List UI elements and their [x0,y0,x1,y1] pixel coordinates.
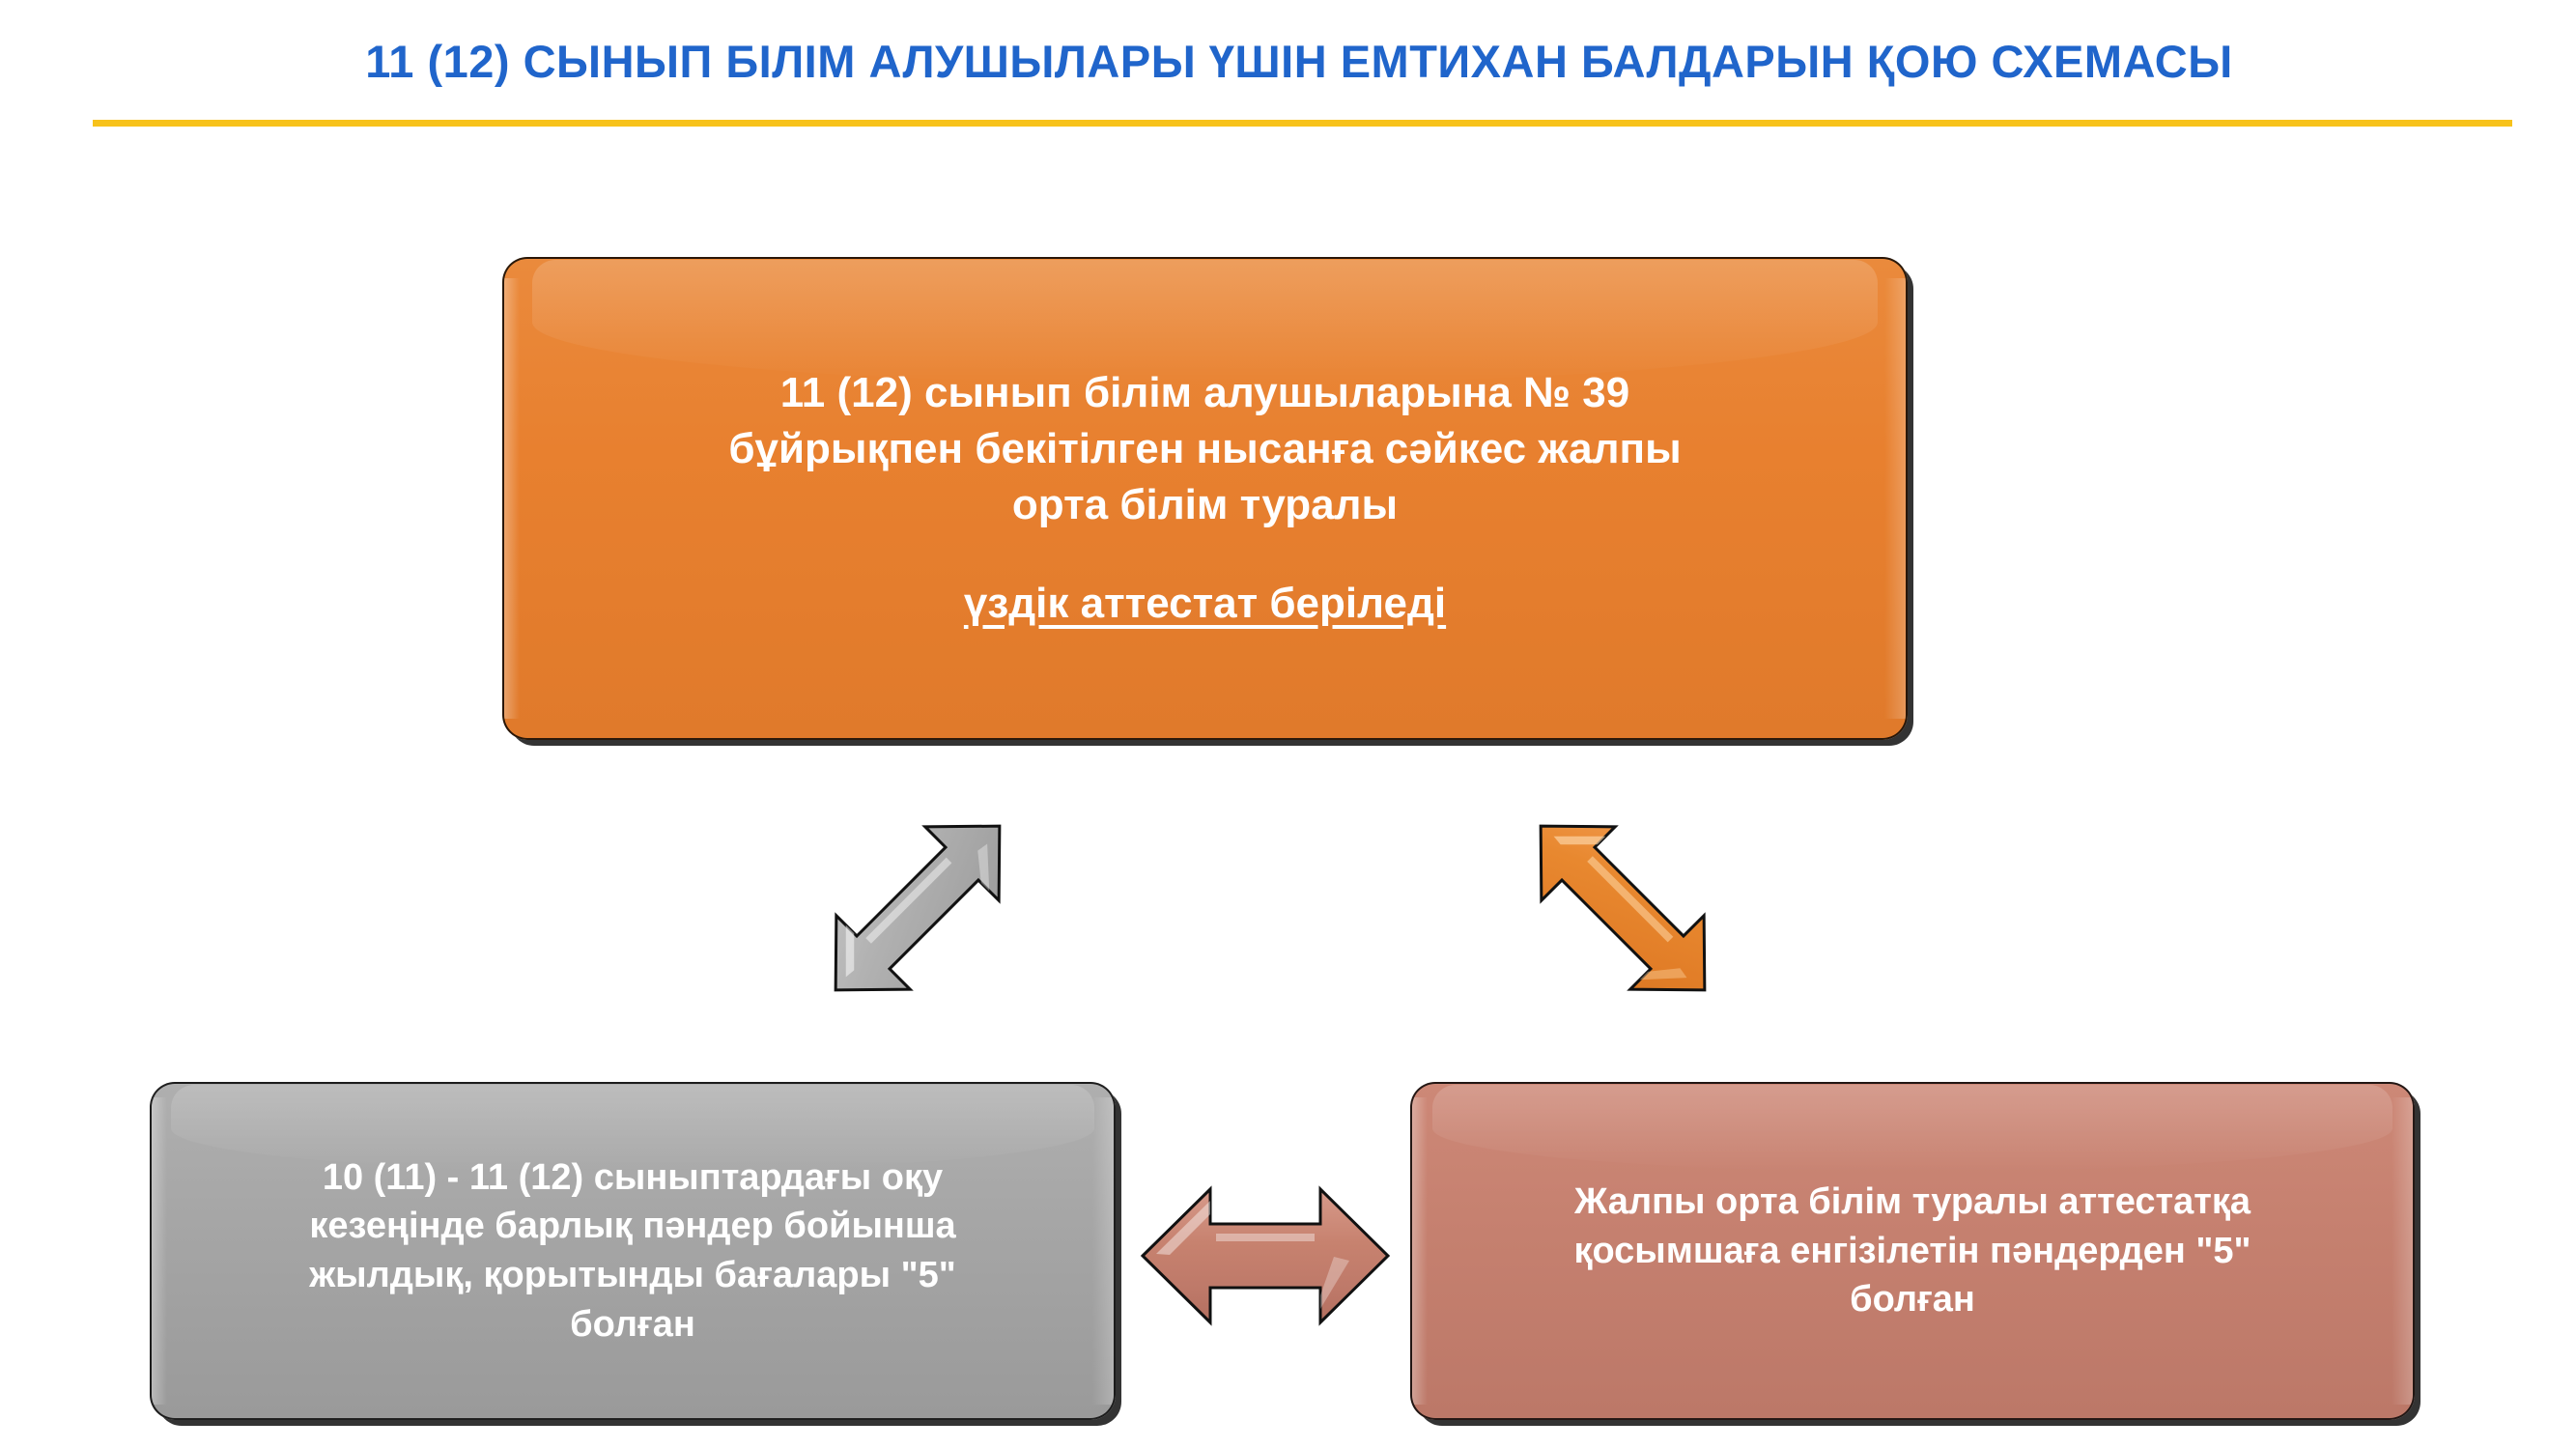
process-box-right-text: Жалпы орта білім туралы аттестатқа қосым… [1472,1178,2353,1324]
connector-gray-diagonal[interactable] [763,792,1072,1024]
connector-orange-diagonal[interactable] [1468,792,1777,1024]
title-bar: 11 (12) СЫНЫП БІЛІМ АЛУШЫЛАРЫ ҮШІН ЕМТИХ… [0,0,2576,135]
title-underline-rule [93,120,2512,127]
left-box-line-1: 10 (11) - 11 (12) сыныптардағы оқу [210,1153,1056,1203]
right-box-line-1: Жалпы орта білім туралы аттестатқа [1472,1178,2353,1227]
right-box-line-2: қосымшаға енгізілетін пәндерден "5" [1472,1227,2353,1276]
gray-double-arrow-icon [763,792,1072,1024]
top-box-emphasis-text: үздік аттестат беріледі [964,576,1446,632]
right-box-line-3: болған [1472,1275,2353,1324]
box-highlight-left [152,1097,167,1405]
box-highlight-right [1884,278,1906,719]
left-box-line-2: кезеңінде барлық пәндер бойынша [210,1202,1056,1251]
top-box-emphasis-wrap: үздік аттестат беріледі [588,533,1822,632]
process-box-top-text: 11 (12) сынып білім алушыларына № 39 бұй… [588,365,1822,632]
pink-double-arrow-icon [1135,1164,1396,1348]
top-box-line-1: 11 (12) сынып білім алушыларына № 39 [588,365,1822,421]
top-box-line-3: орта білім туралы [588,477,1822,533]
process-box-left-text: 10 (11) - 11 (12) сыныптардағы оқу кезең… [210,1153,1056,1349]
box-highlight-top [1432,1085,2393,1172]
left-box-line-4: болған [210,1300,1056,1350]
box-highlight-left [504,278,520,719]
left-box-line-3: жылдық, қорытынды бағалары "5" [210,1251,1056,1300]
box-highlight-right [1092,1097,1114,1405]
box-highlight-right [2392,1097,2413,1405]
orange-double-arrow-icon [1468,792,1777,1024]
box-highlight-left [1412,1097,1428,1405]
process-box-bottom-left-gray[interactable]: 10 (11) - 11 (12) сыныптардағы оқу кезең… [150,1082,1116,1420]
connector-pink-horizontal[interactable] [1135,1164,1396,1348]
top-box-line-2: бұйрықпен бекітілген нысанға сәйкес жалп… [588,421,1822,477]
process-box-top-orange[interactable]: 11 (12) сынып білім алушыларына № 39 бұй… [502,257,1908,740]
process-box-bottom-right-pink[interactable]: Жалпы орта білім туралы аттестатқа қосым… [1410,1082,2415,1420]
page-title: 11 (12) СЫНЫП БІЛІМ АЛУШЫЛАРЫ ҮШІН ЕМТИХ… [92,37,2506,87]
